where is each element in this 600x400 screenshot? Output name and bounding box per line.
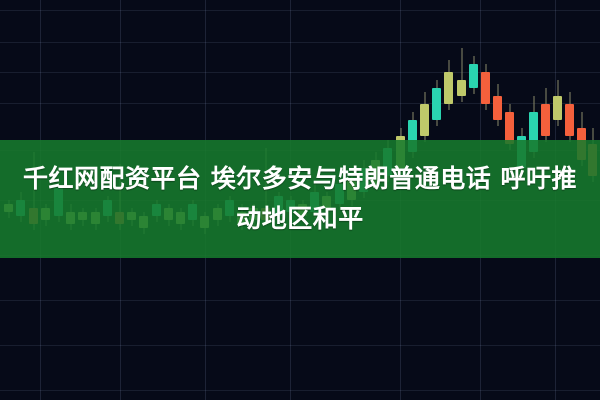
- candlestick: [420, 92, 429, 142]
- headline-banner: 千红网配资平台 埃尔多安与特朗普通电话 呼吁推动地区和平: [0, 140, 600, 258]
- candlestick: [541, 88, 550, 142]
- candlestick: [457, 48, 466, 102]
- candle-body: [469, 64, 478, 88]
- candlestick: [481, 64, 490, 110]
- candle-body: [493, 96, 502, 120]
- candle-body: [565, 104, 574, 136]
- headline-text: 千红网配资平台 埃尔多安与特朗普通电话 呼吁推动地区和平: [20, 159, 580, 239]
- candle-body: [444, 72, 453, 104]
- candle-body: [541, 104, 550, 136]
- candlestick: [469, 56, 478, 94]
- candle-body: [553, 96, 562, 120]
- stock-chart-banner-image: 千红网配资平台 埃尔多安与特朗普通电话 呼吁推动地区和平: [0, 0, 600, 400]
- candlestick: [444, 60, 453, 110]
- candlestick: [553, 80, 562, 126]
- candle-body: [420, 104, 429, 136]
- candle-body: [457, 80, 466, 96]
- candle-body: [481, 72, 490, 104]
- candlestick: [565, 92, 574, 142]
- candlestick: [432, 80, 441, 126]
- candle-body: [432, 88, 441, 120]
- candlestick: [493, 84, 502, 126]
